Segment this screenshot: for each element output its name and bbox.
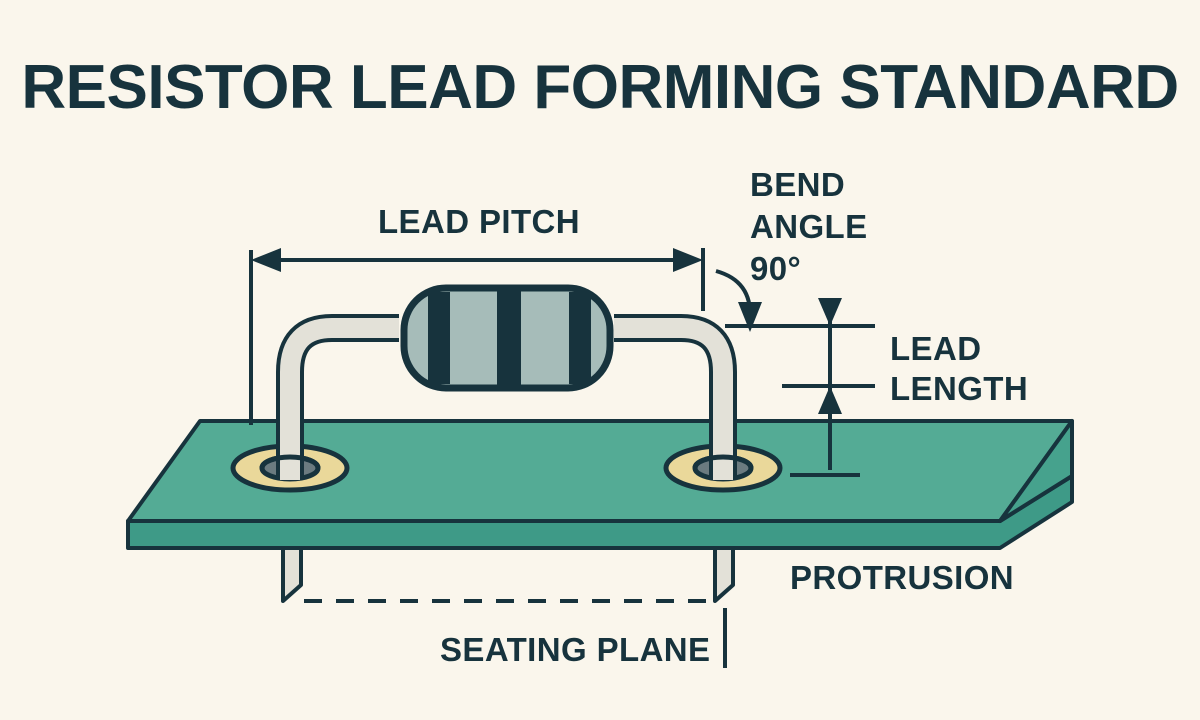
- seating-plane-label: SEATING PLANE: [440, 631, 710, 668]
- color-band-1: [428, 292, 450, 384]
- lead-pitch-arrow-right: [673, 248, 703, 272]
- lead-length-arrow-top: [818, 298, 842, 326]
- protrusion-right: [715, 548, 733, 601]
- page-title: RESISTOR LEAD FORMING STANDARD: [21, 53, 1178, 122]
- protrusion-left: [283, 548, 301, 601]
- callout-seating-plane: SEATING PLANE: [304, 601, 725, 668]
- callout-bend-angle: BEND ANGLE 90°: [716, 166, 868, 332]
- callout-protrusion: PROTRUSION: [790, 559, 1014, 596]
- bend-angle-label-line2: ANGLE: [750, 208, 868, 245]
- lead-length-label-line2: LENGTH: [890, 370, 1028, 407]
- bend-angle-label-line1: BEND: [750, 166, 845, 203]
- lead-pitch-label: LEAD PITCH: [378, 203, 580, 240]
- diagram-canvas: RESISTOR LEAD FORMING STANDARD: [0, 0, 1200, 720]
- color-band-2: [497, 291, 521, 385]
- bend-angle-value: 90°: [750, 250, 801, 287]
- lead-length-label-line1: LEAD: [890, 330, 981, 367]
- resistor-lead-forming-diagram: RESISTOR LEAD FORMING STANDARD: [0, 0, 1200, 720]
- protrusion-label: PROTRUSION: [790, 559, 1014, 596]
- resistor-body: [404, 288, 610, 388]
- lead-protrusions: [283, 548, 733, 601]
- color-band-3: [569, 292, 591, 384]
- lead-pitch-arrow-left: [251, 248, 281, 272]
- lead-length-arrow-bottom: [818, 386, 842, 414]
